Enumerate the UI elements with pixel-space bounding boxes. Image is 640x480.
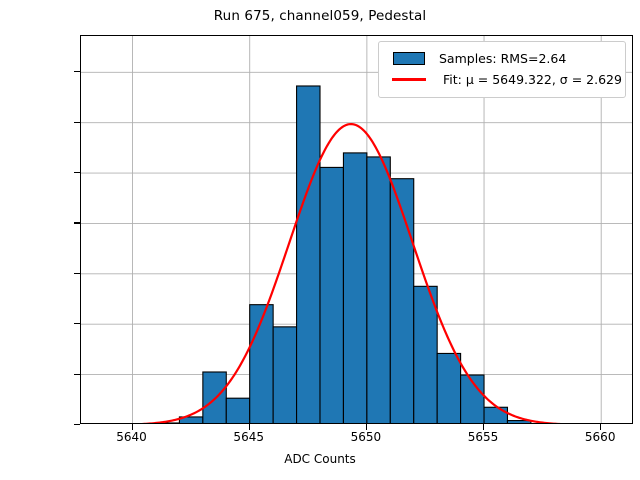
histogram-figure: Run 675, channel059, Pedestal 0250500750… <box>0 0 640 480</box>
histogram-bar <box>484 407 507 424</box>
legend-patch-icon <box>387 52 431 65</box>
x-axis-label: ADC Counts <box>0 452 640 466</box>
legend-entry-samples: Samples: RMS=2.64 <box>387 48 617 69</box>
x-tick-mark <box>600 424 601 430</box>
legend-entry-fit: Fit: μ = 5649.322, σ = 2.629 <box>387 69 617 90</box>
x-tick-mark <box>249 424 250 430</box>
histogram-bar <box>320 167 343 424</box>
legend-label-fit: Fit: μ = 5649.322, σ = 2.629 <box>431 72 622 87</box>
x-tick-label: 5640 <box>116 430 147 444</box>
x-tick-mark <box>483 424 484 430</box>
legend-label-samples: Samples: RMS=2.64 <box>431 51 566 66</box>
y-tick-mark <box>74 222 80 223</box>
histogram-bar <box>343 153 366 424</box>
x-tick-label: 5650 <box>351 430 382 444</box>
x-tick-label: 5660 <box>585 430 616 444</box>
histogram-bar <box>297 86 320 424</box>
y-tick-mark <box>74 323 80 324</box>
histogram-bar <box>156 423 179 424</box>
histogram-bars <box>156 86 531 424</box>
histogram-bar <box>273 327 296 424</box>
y-tick-mark <box>74 273 80 274</box>
y-tick-mark <box>74 172 80 173</box>
x-tick-mark <box>132 424 133 430</box>
y-tick-mark <box>74 71 80 72</box>
y-tick-mark <box>74 424 80 425</box>
x-tick-mark <box>366 424 367 430</box>
x-tick-label: 5655 <box>468 430 499 444</box>
histogram-bar <box>437 353 460 424</box>
histogram-bar <box>367 157 390 424</box>
x-tick-label: 5645 <box>233 430 264 444</box>
y-tick-mark <box>74 122 80 123</box>
legend: Samples: RMS=2.64 Fit: μ = 5649.322, σ =… <box>378 41 626 98</box>
legend-line-icon <box>387 78 431 80</box>
histogram-bar <box>414 286 437 424</box>
chart-title: Run 675, channel059, Pedestal <box>0 8 640 24</box>
histogram-bar <box>390 179 413 424</box>
y-tick-mark <box>74 374 80 375</box>
histogram-bar <box>226 398 249 424</box>
